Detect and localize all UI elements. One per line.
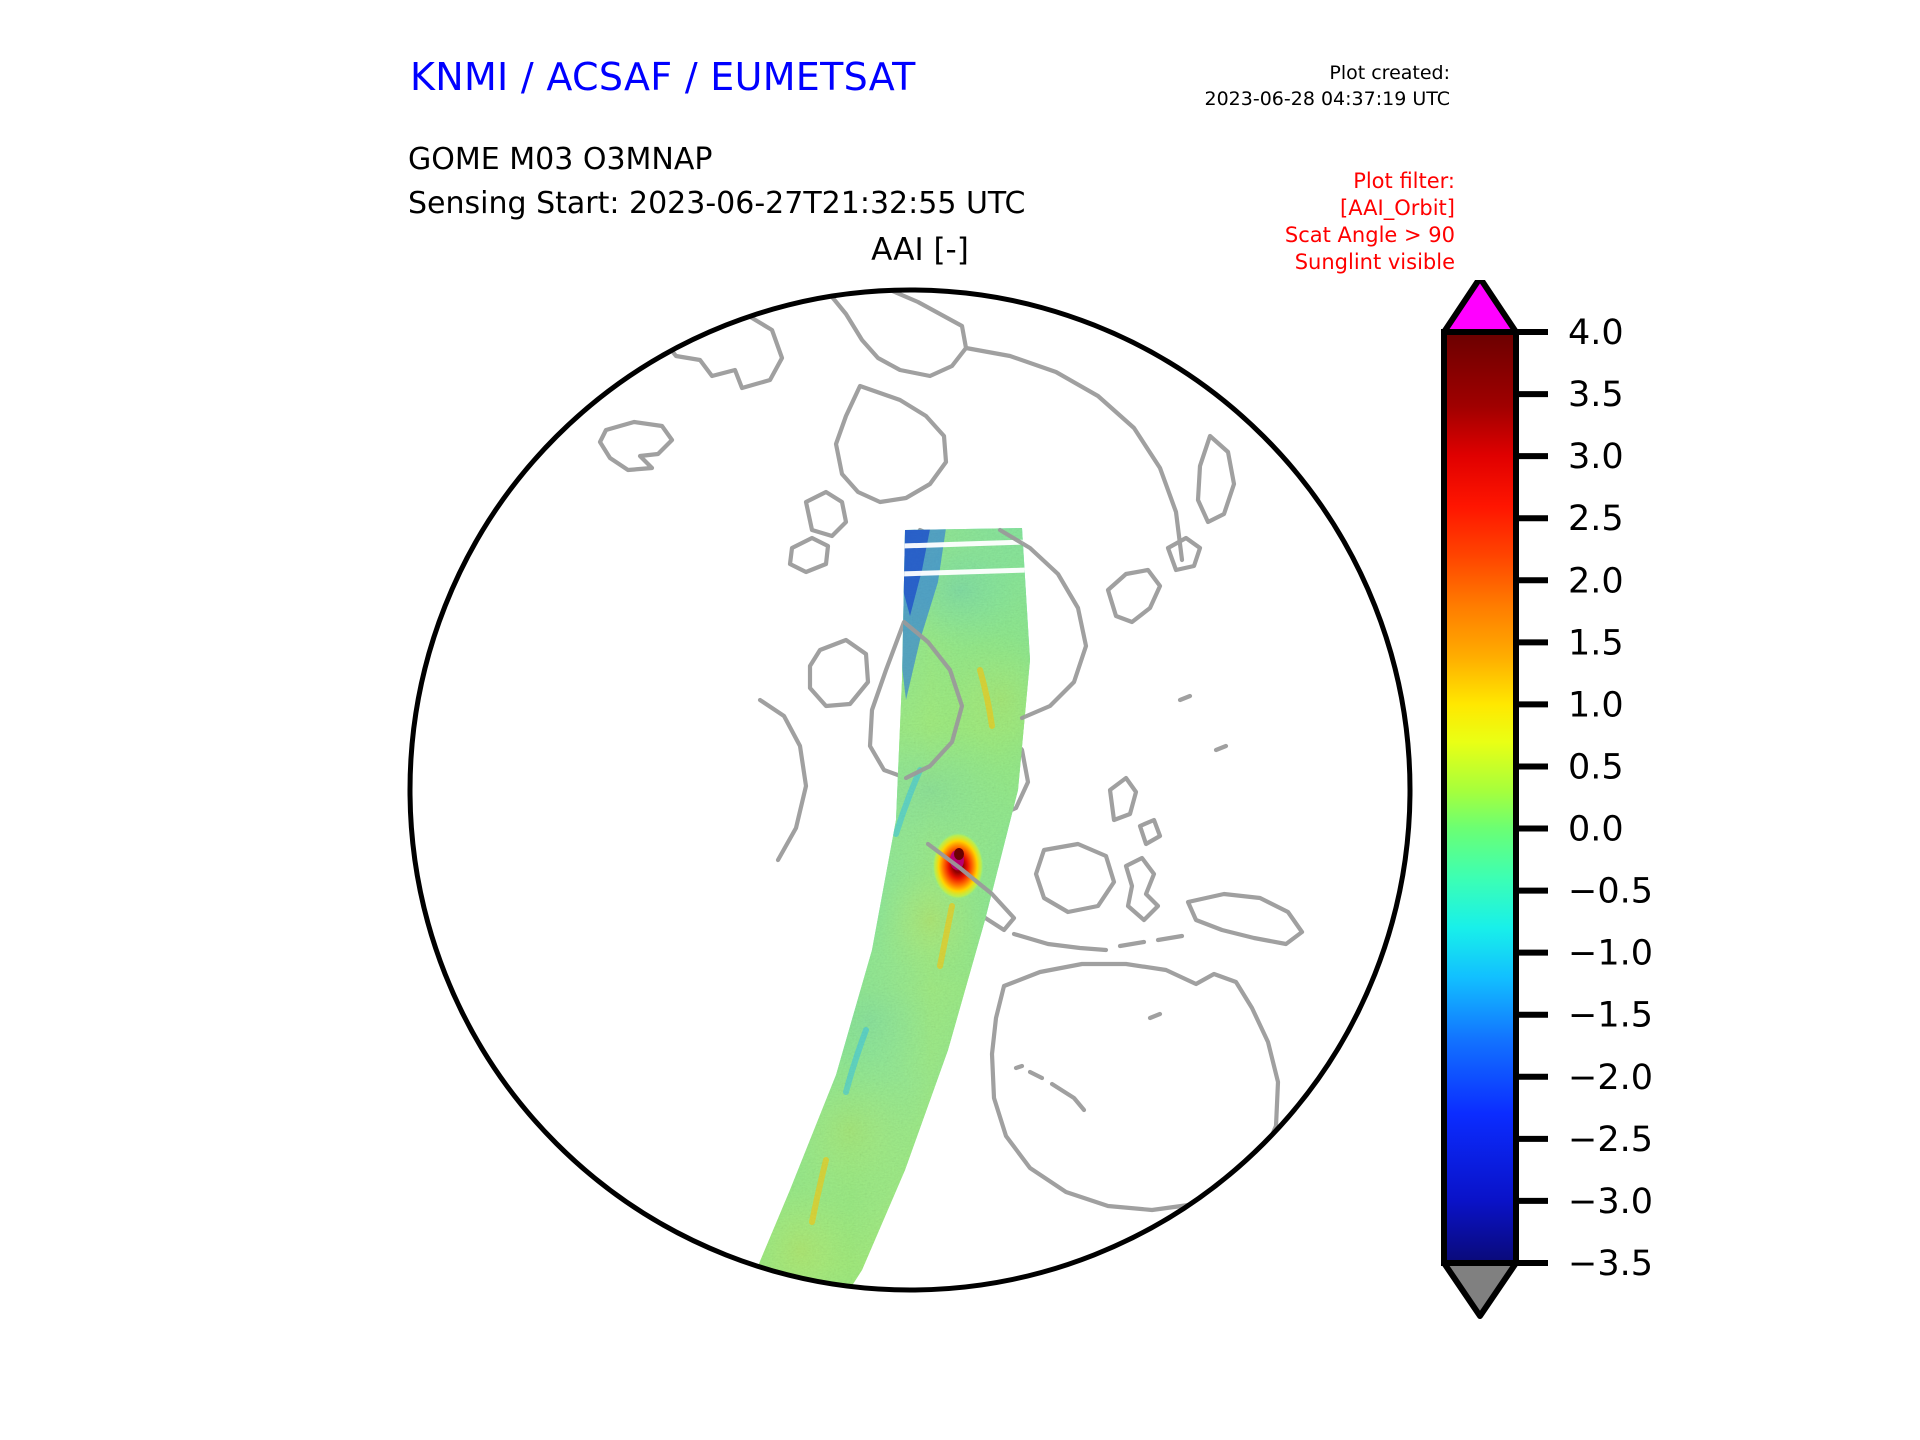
colorbar-over-arrow bbox=[1444, 280, 1516, 332]
colorbar-tick-label: 3.0 bbox=[1568, 437, 1624, 477]
colorbar-tick-label: 0.5 bbox=[1568, 747, 1624, 787]
colorbar-tick-label: −1.5 bbox=[1568, 996, 1653, 1036]
colorbar-ticks bbox=[1516, 332, 1548, 1263]
colorbar-tick-labels: 4.03.53.02.52.01.51.00.50.0−0.5−1.0−1.5−… bbox=[1568, 313, 1653, 1284]
colorbar[interactable]: 4.03.53.02.52.01.51.00.50.0−0.5−1.0−1.5−… bbox=[1432, 280, 1852, 1320]
colorbar-tick-label: 1.5 bbox=[1568, 623, 1624, 663]
colorbar-tick-label: 3.5 bbox=[1568, 375, 1624, 415]
colorbar-tick-label: 0.0 bbox=[1568, 810, 1624, 850]
colorbar-tick-label: −2.5 bbox=[1568, 1120, 1653, 1160]
colorbar-tick-label: 2.5 bbox=[1568, 499, 1624, 539]
colorbar-panel[interactable]: 4.03.53.02.52.01.51.00.50.0−0.5−1.0−1.5−… bbox=[1432, 280, 1852, 1320]
dataset-info-block: GOME M03 O3MNAP Sensing Start: 2023-06-2… bbox=[408, 138, 1025, 226]
colorbar-under-arrow bbox=[1444, 1263, 1516, 1316]
plot-created-label: Plot created: bbox=[1140, 60, 1450, 86]
dataset-name: GOME M03 O3MNAP bbox=[408, 138, 1025, 182]
plot-created-block: Plot created: 2023-06-28 04:37:19 UTC bbox=[1140, 60, 1450, 112]
map-panel bbox=[0, 230, 1430, 1410]
sensing-start: Sensing Start: 2023-06-27T21:32:55 UTC bbox=[408, 182, 1025, 226]
colorbar-tick-label: 2.0 bbox=[1568, 561, 1624, 601]
colorbar-tick-label: 4.0 bbox=[1568, 313, 1624, 353]
colorbar-tick-label: −3.5 bbox=[1568, 1244, 1653, 1284]
colorbar-tick-label: −0.5 bbox=[1568, 872, 1653, 912]
plot-filter-label: Plot filter: bbox=[1150, 168, 1455, 195]
organisation-title: KNMI / ACSAF / EUMETSAT bbox=[410, 55, 916, 99]
plot-created-value: 2023-06-28 04:37:19 UTC bbox=[1140, 86, 1450, 112]
orthographic-globe bbox=[0, 230, 1430, 1410]
colorbar-gradient[interactable] bbox=[1444, 332, 1516, 1263]
colorbar-tick-label: −1.0 bbox=[1568, 934, 1653, 974]
plot-filter-orbit: [AAI_Orbit] bbox=[1150, 195, 1455, 222]
colorbar-tick-label: 1.0 bbox=[1568, 685, 1624, 725]
colorbar-tick-label: −2.0 bbox=[1568, 1058, 1653, 1098]
colorbar-tick-label: −3.0 bbox=[1568, 1182, 1653, 1222]
